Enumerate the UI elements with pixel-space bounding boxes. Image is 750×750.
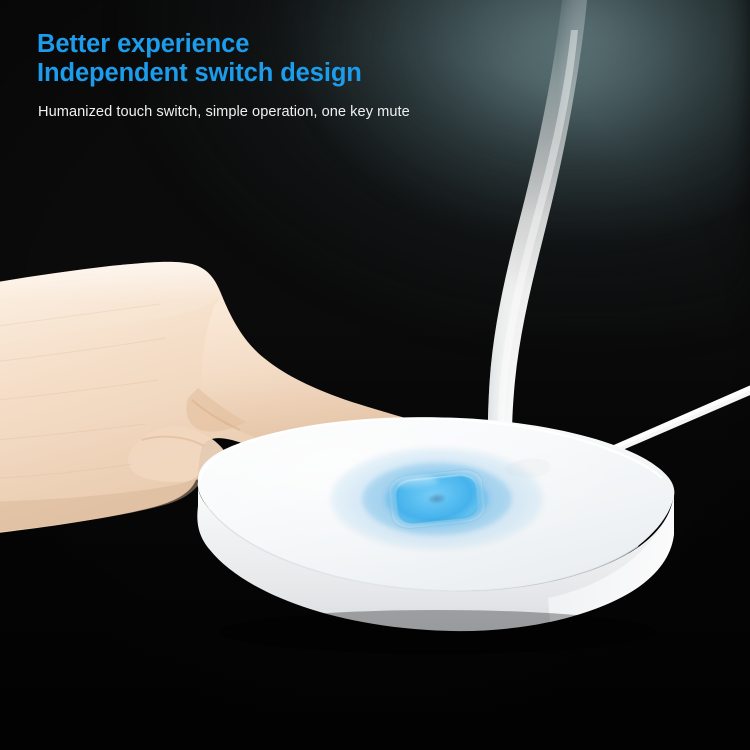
promo-banner: Better experience Independent switch des… [0, 0, 750, 750]
headline-line-2: Independent switch design [37, 59, 410, 88]
promo-copy: Better experience Independent switch des… [37, 30, 410, 122]
device-contact-shadow [220, 610, 656, 654]
touch-switch-button[interactable] [330, 447, 544, 551]
subheadline: Humanized touch switch, simple operation… [38, 103, 410, 122]
headline-line-1: Better experience [37, 30, 410, 59]
